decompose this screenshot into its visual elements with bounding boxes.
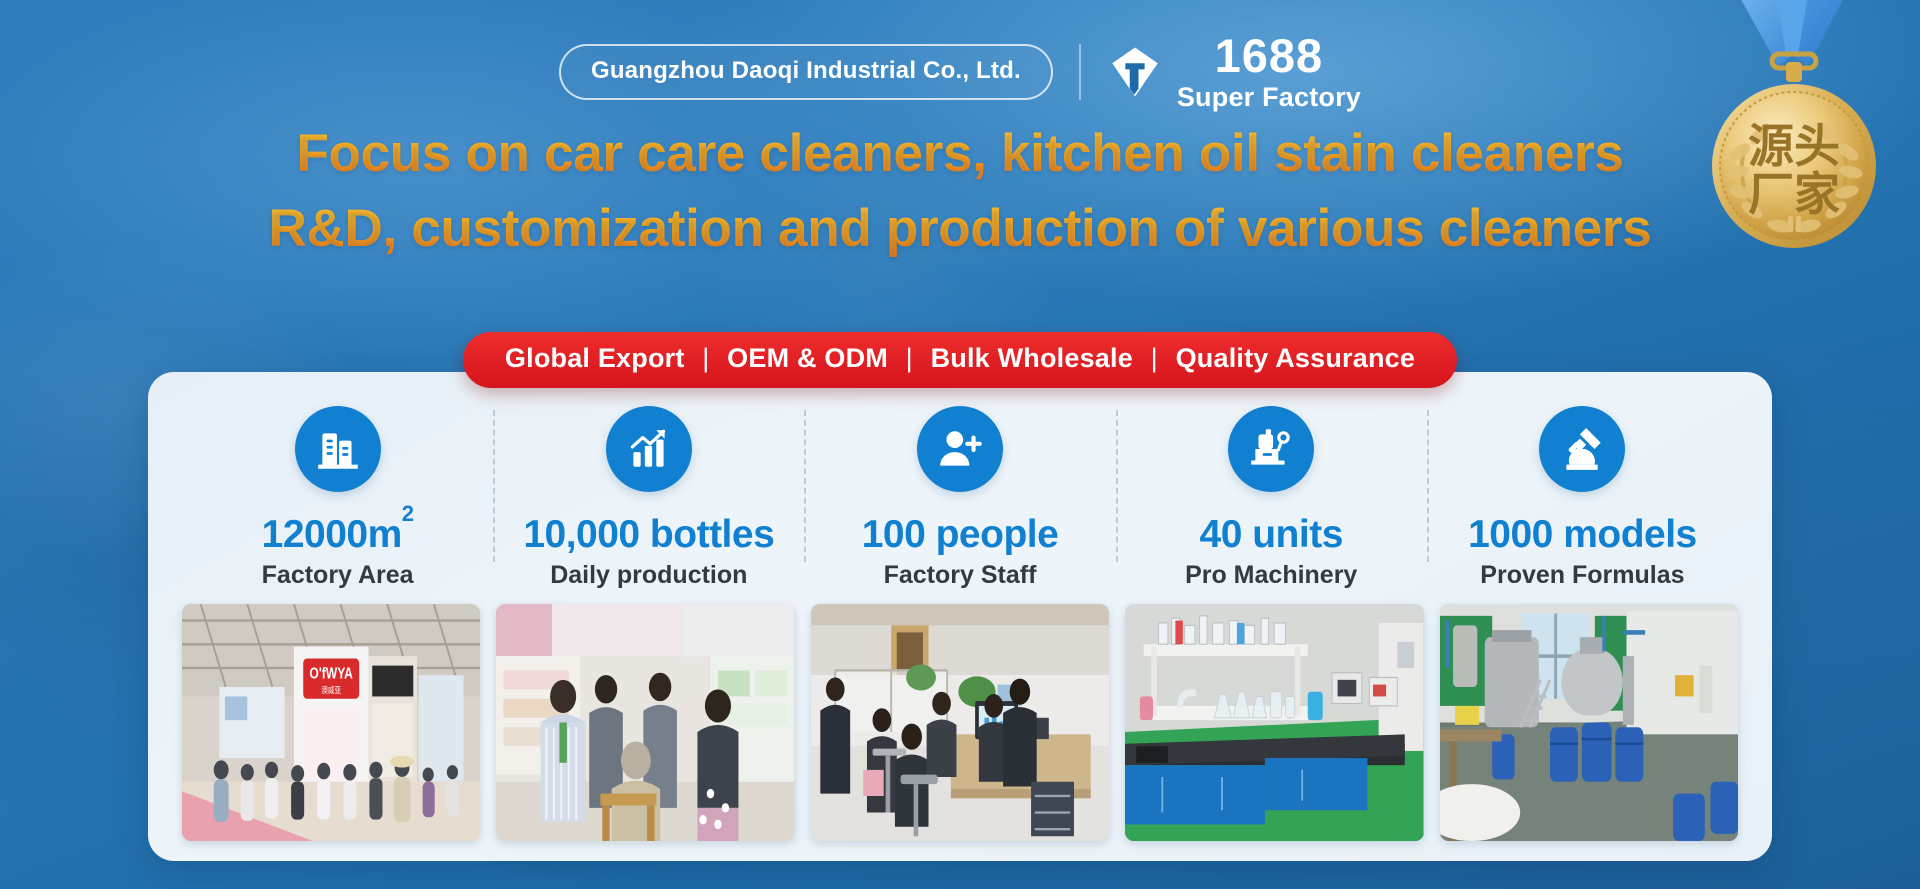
- person-add-icon: [917, 406, 1003, 492]
- ribbon-item-0: Global Export: [505, 343, 685, 373]
- stat-label: Factory Area: [262, 563, 414, 588]
- stat-label: Proven Formulas: [1480, 563, 1684, 588]
- stat-value: 12000m2: [262, 515, 414, 554]
- exhibition-visitors-photo: [496, 604, 794, 841]
- growth-chart-icon: [606, 406, 692, 492]
- header: Guangzhou Daoqi Industrial Co., Ltd. 168…: [0, 32, 1920, 111]
- stat-value: 100 people: [862, 515, 1059, 554]
- stat-factory-staff: 100 people Factory Staff: [804, 406, 1115, 588]
- ribbon-sep-2: |: [1141, 343, 1168, 373]
- stat-value: 10,000 bottles: [523, 515, 774, 554]
- stat-daily-production: 10,000 bottles Daily production: [493, 406, 804, 588]
- medal-text-line-2: 厂家: [1748, 167, 1840, 221]
- svg-text:澳威亚: 澳威亚: [321, 684, 341, 695]
- stat-factory-area: 12000m2 Factory Area: [182, 406, 493, 588]
- ribbon-item-3: Quality Assurance: [1176, 343, 1416, 373]
- header-divider: [1079, 44, 1081, 100]
- headline-line-2: R&D, customization and production of var…: [0, 199, 1920, 258]
- 1688-super-factory-logo: 1688 Super Factory: [1107, 32, 1361, 111]
- svg-text:O'fWYA: O'fWYA: [309, 664, 353, 682]
- microscope-icon: [1539, 406, 1625, 492]
- ribbon-sep-1: |: [896, 343, 923, 373]
- ribbon-item-2: Bulk Wholesale: [931, 343, 1133, 373]
- trade-show-booth-photo: O'fWYA 澳威亚: [182, 604, 480, 841]
- stats-row: 12000m2 Factory Area 10,000 bottles Dail…: [182, 406, 1738, 584]
- office-workspace-photo: [811, 604, 1109, 841]
- medal-text-line-1: 源头: [1748, 119, 1840, 173]
- gold-medal-badge: 源头 厂家: [1694, 0, 1894, 264]
- logo-subtitle: Super Factory: [1177, 84, 1361, 111]
- headline-line-1: Focus on car care cleaners, kitchen oil …: [0, 124, 1920, 183]
- production-workshop-photo: [1440, 604, 1738, 841]
- ribbon-sep-0: |: [692, 343, 719, 373]
- stat-label: Daily production: [550, 563, 747, 588]
- gem-icon: [1107, 44, 1163, 100]
- stat-pro-machinery: 40 units Pro Machinery: [1116, 406, 1427, 588]
- ribbon-item-1: OEM & ODM: [727, 343, 888, 373]
- logo-number: 1688: [1215, 32, 1324, 79]
- stat-proven-formulas: 1000 models Proven Formulas: [1427, 406, 1738, 588]
- building-icon: [295, 406, 381, 492]
- stat-value: 1000 models: [1468, 515, 1697, 554]
- stat-label: Factory Staff: [884, 563, 1037, 588]
- company-name-pill: Guangzhou Daoqi Industrial Co., Ltd.: [559, 44, 1053, 100]
- stat-value: 40 units: [1200, 515, 1343, 554]
- stat-label: Pro Machinery: [1185, 563, 1357, 588]
- page-headline: Focus on car care cleaners, kitchen oil …: [0, 124, 1920, 259]
- gold-medal-icon: 源头 厂家: [1694, 0, 1894, 264]
- photo-strip: O'fWYA 澳威亚: [168, 604, 1752, 841]
- stats-and-photos-card: 12000m2 Factory Area 10,000 bottles Dail…: [148, 372, 1772, 861]
- laboratory-photo: [1125, 604, 1423, 841]
- feature-ribbon: Global Export | OEM & ODM | Bulk Wholesa…: [463, 332, 1457, 388]
- machinery-icon: [1228, 406, 1314, 492]
